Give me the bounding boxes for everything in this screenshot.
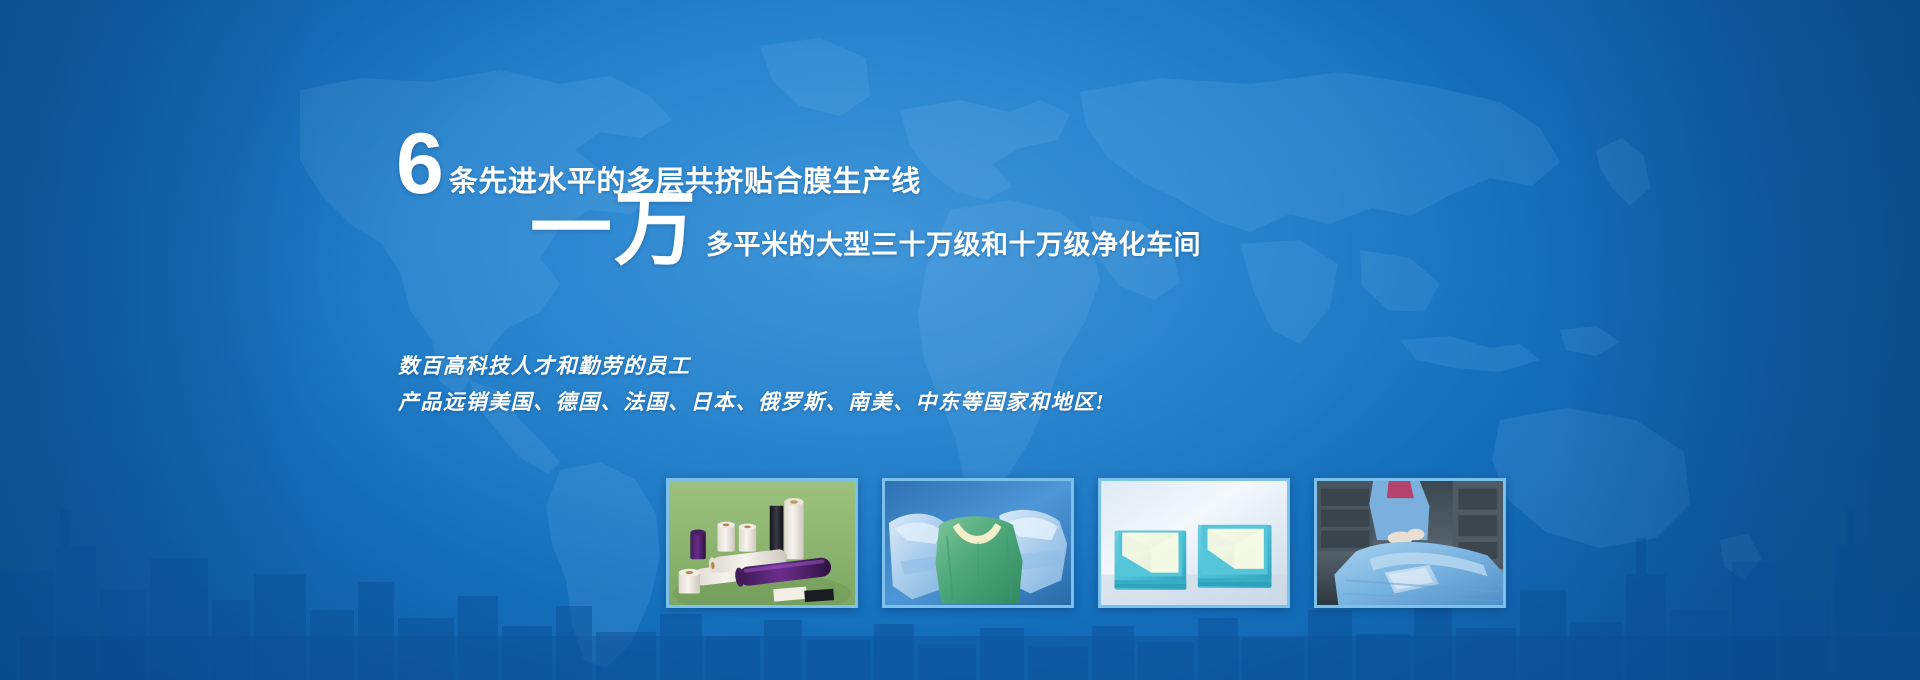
thumbnail-surgical-gowns[interactable] xyxy=(882,478,1074,608)
subtext-block: 数百高科技人才和勤劳的员工 产品远销美国、德国、法国、日本、俄罗斯、南美、中东等… xyxy=(398,348,1105,420)
thumbnail-multilayer-film-rolls[interactable] xyxy=(666,478,858,608)
promotional-banner: 6 条先进水平的多层共挤贴合膜生产线 一万 多平米的大型三十万级和十万级净化车间… xyxy=(0,0,1920,680)
headline-line-2-number: 一万 xyxy=(530,192,698,267)
headline-line-2: 一万 多平米的大型三十万级和十万级净化车间 xyxy=(530,192,1201,267)
headline-line-1-text: 条先进水平的多层共挤贴合膜生产线 xyxy=(449,168,921,202)
headline-line-2-text: 多平米的大型三十万级和十万级净化车间 xyxy=(706,232,1201,267)
right-edge-shading xyxy=(1560,0,1920,680)
subtext-line-1: 数百高科技人才和勤劳的员工 xyxy=(398,348,1105,384)
left-edge-shading xyxy=(0,0,320,680)
thumbnail-surgical-drapes[interactable] xyxy=(1098,478,1290,608)
thumbnail-operating-room-drape-in-use[interactable] xyxy=(1314,478,1506,608)
headline-line-1: 6 条先进水平的多层共挤贴合膜生产线 xyxy=(396,128,921,202)
headline-line-1-number: 6 xyxy=(396,128,443,202)
product-thumbnail-strip xyxy=(666,478,1506,608)
subtext-line-2: 产品远销美国、德国、法国、日本、俄罗斯、南美、中东等国家和地区! xyxy=(398,384,1105,420)
